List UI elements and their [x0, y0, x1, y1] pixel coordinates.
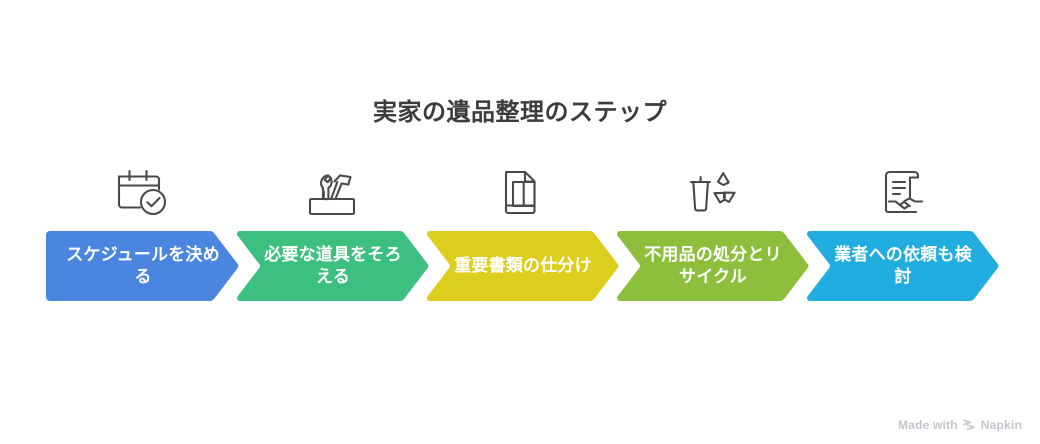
toolbox-icon [301, 161, 363, 223]
process-chevron-band: スケジュールを決める 必要な道具をそろえる 重要書類の仕分け [46, 231, 1000, 301]
process-step-4-label: 不用品の処分とリサイクル [636, 244, 790, 288]
process-step-3[interactable]: 重要書類の仕分け [426, 231, 620, 301]
step-icon-5 [809, 157, 1000, 223]
watermark-made-with-label: Made with [898, 418, 958, 432]
step-icon-4 [618, 157, 809, 223]
process-step-5-label: 業者への依頼も検討 [826, 244, 980, 288]
step-icon-3 [428, 157, 619, 223]
page-title: 実家の遺品整理のステップ [0, 92, 1040, 127]
infographic-canvas: 実家の遺品整理のステップ [0, 0, 1040, 444]
process-step-1-label: スケジュールを決める [66, 244, 220, 288]
process-step-2[interactable]: 必要な道具をそろえる [236, 231, 430, 301]
contract-handshake-icon [874, 161, 936, 223]
napkin-watermark: Made with Napkin [898, 418, 1022, 432]
calendar-check-icon [110, 161, 172, 223]
napkin-chevrons-icon [963, 419, 976, 432]
step-icon-1 [46, 157, 237, 223]
watermark-brand-label: Napkin [981, 418, 1022, 432]
process-step-2-label: 必要な道具をそろえる [256, 244, 410, 288]
trash-recycle-icon [683, 161, 745, 223]
process-step-1[interactable]: スケジュールを決める [46, 231, 240, 301]
process-step-3-label: 重要書類の仕分け [446, 255, 600, 277]
documents-icon [492, 161, 554, 223]
process-step-5[interactable]: 業者への依頼も検討 [806, 231, 1000, 301]
process-step-4[interactable]: 不用品の処分とリサイクル [616, 231, 810, 301]
step-icons-row [46, 157, 1000, 223]
step-icon-2 [237, 157, 428, 223]
